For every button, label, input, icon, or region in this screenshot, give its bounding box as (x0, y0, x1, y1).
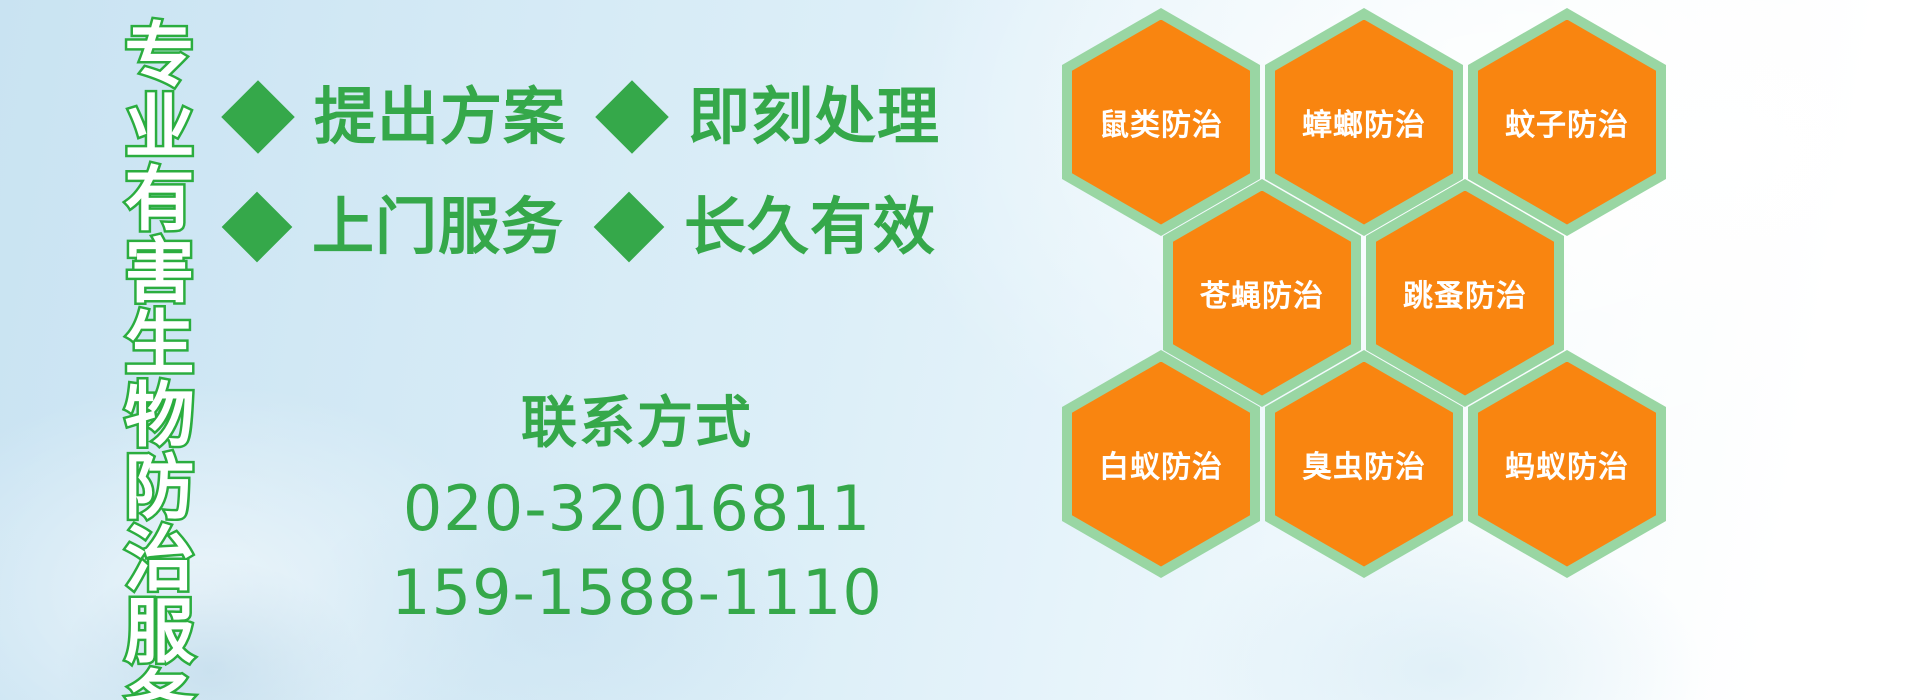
hex-inner: 蚊子防治 (1478, 20, 1656, 225)
hex-label: 蚂蚁防治 (1505, 442, 1629, 486)
phone-number-mobile[interactable]: 159-1588-1110 (232, 552, 1042, 634)
service-honeycomb-grid: 鼠类防治 蟑螂防治 蚊子防治 苍蝇防治 跳蚤防治 白蚁防治 (1040, 0, 1920, 700)
hex-label: 跳蚤防治 (1403, 271, 1527, 315)
contact-block: 联系方式 020-32016811 159-1588-1110 (232, 392, 1042, 633)
diamond-icon (222, 192, 293, 263)
vertical-headline: 专业有害生物防治服务 (104, 18, 190, 682)
hex-label: 蟑螂防治 (1302, 100, 1426, 144)
phone-number-landline[interactable]: 020-32016811 (232, 468, 1042, 550)
hex-inner: 鼠类防治 (1072, 20, 1250, 225)
diamond-icon (221, 80, 295, 154)
contact-label: 联系方式 (232, 392, 1042, 456)
hex-label: 白蚁防治 (1099, 442, 1223, 486)
hex-label: 臭虫防治 (1302, 442, 1426, 486)
hex-label: 蚊子防治 (1505, 100, 1629, 144)
feature-row-1: 提出方案 即刻处理 (232, 86, 940, 148)
hex-inner: 蟑螂防治 (1275, 20, 1453, 225)
hex-label: 苍蝇防治 (1200, 271, 1324, 315)
hex-inner: 苍蝇防治 (1173, 191, 1351, 396)
hex-inner: 蚂蚁防治 (1478, 362, 1656, 567)
hex-inner: 跳蚤防治 (1376, 191, 1554, 396)
hex-label: 鼠类防治 (1099, 100, 1223, 144)
diamond-icon (595, 80, 669, 154)
feature-label-immediate-handling: 即刻处理 (688, 86, 940, 148)
feature-row-2: 上门服务 长久有效 (232, 196, 936, 258)
feature-label-long-lasting-effect: 长久有效 (684, 196, 936, 258)
hex-inner: 臭虫防治 (1275, 362, 1453, 567)
feature-label-door-to-door-service: 上门服务 (312, 196, 564, 258)
feature-label-propose-plan: 提出方案 (314, 86, 566, 148)
diamond-icon (594, 192, 665, 263)
hex-inner: 白蚁防治 (1072, 362, 1250, 567)
promo-banner: 专业有害生物防治服务 提出方案 即刻处理 上门服务 长久有效 联系方式 020-… (0, 0, 1920, 700)
